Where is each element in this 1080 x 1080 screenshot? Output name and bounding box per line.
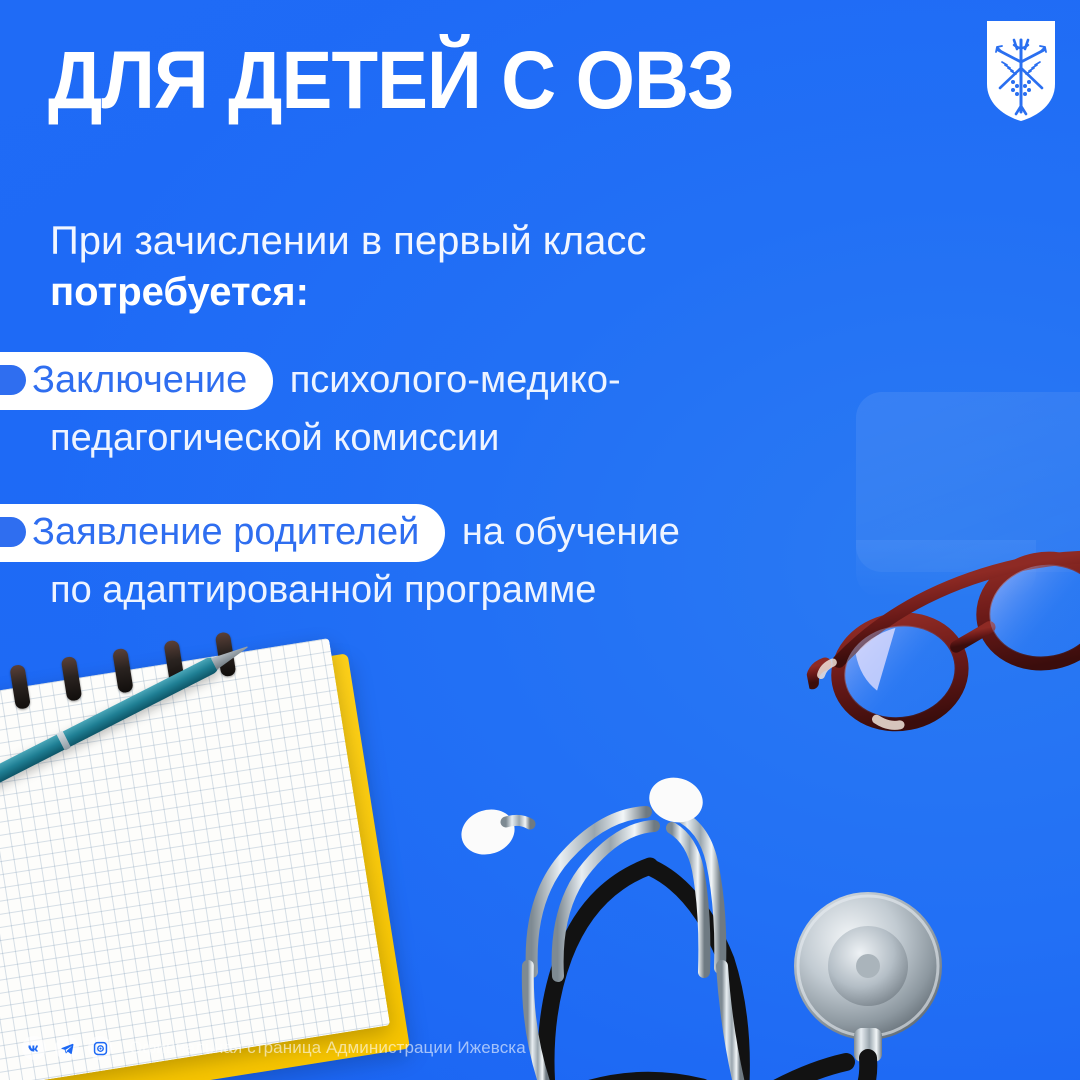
footer-text: Официальная страница Администрации Ижевс… xyxy=(129,1038,526,1058)
requirement-text: на обучение xyxy=(462,511,680,553)
notepad-page xyxy=(0,638,390,1080)
requirement-text: психолого-медико- xyxy=(290,359,621,401)
izhevsk-coat-of-arms-icon xyxy=(984,18,1058,124)
subtitle: При зачислении в первый класс потребуетс… xyxy=(50,216,850,318)
subtitle-line-2: потребуется: xyxy=(50,267,850,318)
requirement-pill: Заявление родителей xyxy=(0,504,445,562)
stethoscope-image xyxy=(440,770,1000,1080)
subtitle-line-1: При зачислении в первый класс xyxy=(50,219,646,263)
requirement-pill-label: Заключение xyxy=(32,359,247,401)
list-item: Заключение психолого-медико- педагогичес… xyxy=(0,352,1080,464)
page-title: ДЛЯ ДЕТЕЙ С ОВЗ xyxy=(48,38,734,124)
vk-icon[interactable] xyxy=(22,1036,46,1060)
footer: Официальная страница Администрации Ижевс… xyxy=(22,1036,526,1060)
poster-canvas: ДЛЯ ДЕТЕЙ С ОВЗ При зачислении в первый … xyxy=(0,0,1080,1080)
notepad-image xyxy=(0,621,442,1080)
requirement-pill-label: Заявление родителей xyxy=(32,511,419,553)
requirement-text-line2: педагогической комиссии xyxy=(0,412,1080,464)
telegram-icon[interactable] xyxy=(55,1036,79,1060)
requirement-pill: Заключение xyxy=(0,352,273,410)
rutube-icon[interactable] xyxy=(88,1036,112,1060)
